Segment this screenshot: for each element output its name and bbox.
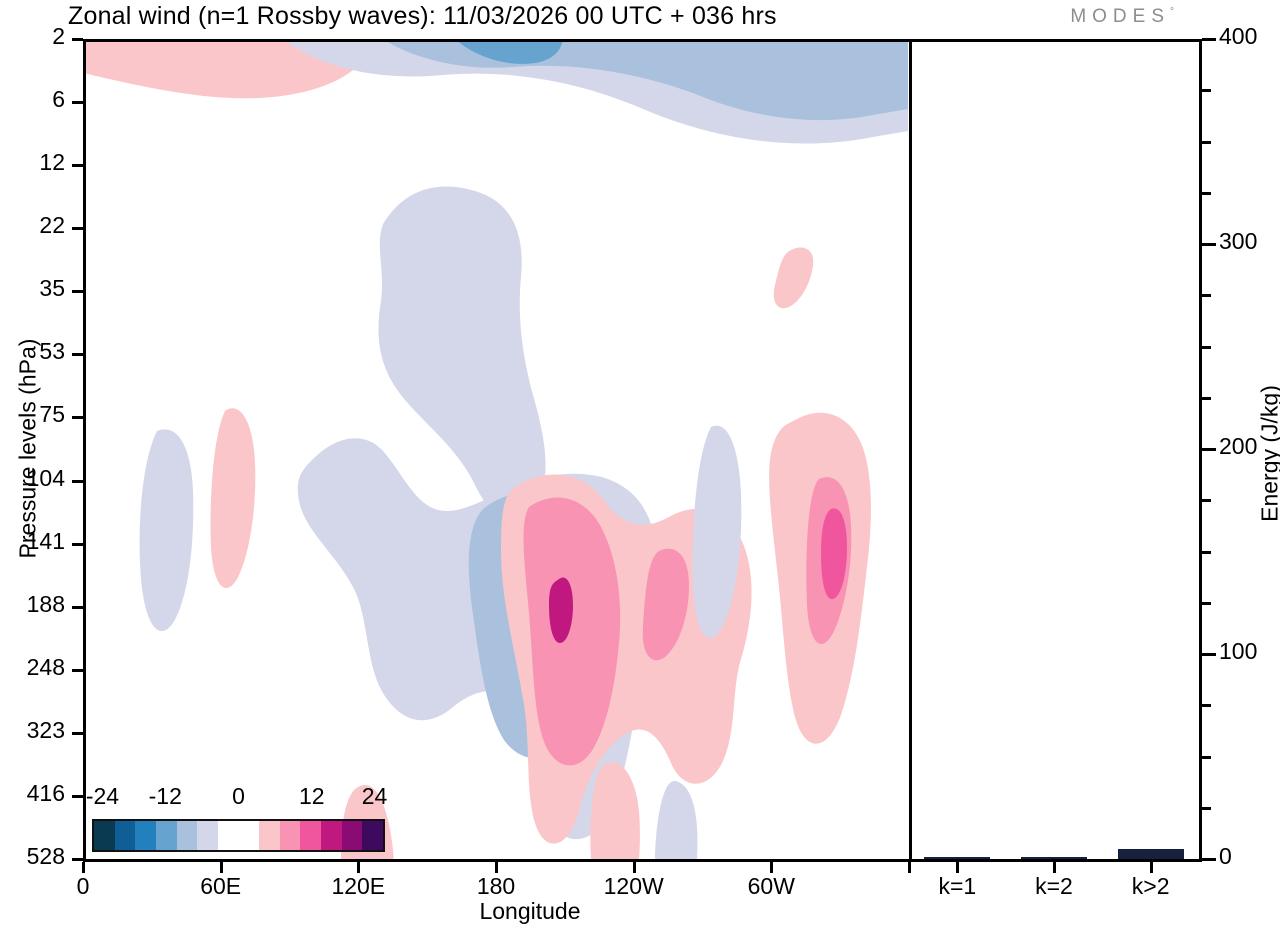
y-tick-right-minor — [1202, 89, 1211, 92]
y-axis-title-right: Energy (J/kg) — [1257, 314, 1280, 594]
y-tick-right-major — [1202, 858, 1216, 861]
y-tick-label-right: 300 — [1219, 228, 1257, 255]
colorbar-swatch — [177, 821, 198, 850]
colorbar-swatch — [362, 821, 383, 850]
y-tick-label-left: 528 — [0, 843, 65, 870]
bar-tick — [1150, 862, 1153, 873]
y-tick-left — [72, 227, 83, 230]
x-tick-label: 60W — [711, 873, 831, 900]
x-tick-label: 120W — [574, 873, 694, 900]
chart-canvas: Zonal wind (n=1 Rossby waves): 11/03/202… — [0, 0, 1280, 930]
colorbar-swatch — [156, 821, 177, 850]
x-tick-label: 0 — [23, 873, 143, 900]
energy-bar — [1118, 849, 1184, 859]
y-tick-label-left: 22 — [0, 212, 65, 239]
modes-logo: MODES° — [1070, 6, 1174, 28]
x-axis-title: Longitude — [380, 898, 680, 925]
y-tick-label-left: 6 — [0, 86, 65, 113]
y-tick-right-minor — [1202, 192, 1211, 195]
y-tick-right-major — [1202, 243, 1216, 246]
y-tick-left — [72, 669, 83, 672]
y-tick-right-minor — [1202, 602, 1211, 605]
colorbar-swatch — [94, 821, 115, 850]
y-tick-right-minor — [1202, 141, 1211, 144]
y-tick-right-minor — [1202, 294, 1211, 297]
y-tick-right-major — [1202, 38, 1216, 41]
colorbar-swatch — [342, 821, 363, 850]
y-tick-right-major — [1202, 448, 1216, 451]
x-tick — [357, 862, 360, 873]
x-tick — [82, 862, 85, 873]
x-tick — [908, 862, 911, 873]
y-tick-left — [72, 290, 83, 293]
page-title: Zonal wind (n=1 Rossby waves): 11/03/202… — [68, 2, 777, 31]
y-tick-left — [72, 164, 83, 167]
y-tick-label-right: 100 — [1219, 638, 1257, 665]
y-tick-right-minor — [1202, 346, 1211, 349]
colorbar-swatch — [197, 821, 218, 850]
contour-field-panel — [83, 39, 908, 859]
y-tick-label-right: 0 — [1219, 843, 1232, 870]
x-tick-label: 60E — [161, 873, 281, 900]
y-tick-left — [72, 543, 83, 546]
plot-frame-bottom — [83, 859, 1199, 862]
colorbar — [92, 819, 385, 852]
y-tick-label-left: 35 — [0, 275, 65, 302]
y-tick-left — [72, 732, 83, 735]
colorbar-swatch — [280, 821, 301, 850]
panel-divider — [909, 39, 912, 859]
colorbar-swatch — [259, 821, 280, 850]
x-tick-label: 120E — [298, 873, 418, 900]
y-tick-label-left: 53 — [0, 338, 65, 365]
y-tick-label-left: 104 — [0, 465, 65, 492]
y-tick-left — [72, 480, 83, 483]
x-tick-label: 180 — [436, 873, 556, 900]
y-tick-label-left: 75 — [0, 401, 65, 428]
colorbar-swatch — [321, 821, 342, 850]
energy-bar-panel — [909, 39, 1199, 859]
y-tick-label-left: 188 — [0, 591, 65, 618]
bar-tick — [1053, 862, 1056, 873]
y-tick-left — [72, 353, 83, 356]
y-tick-right-minor — [1202, 499, 1211, 502]
colorbar-swatch — [135, 821, 156, 850]
colorbar-label: 24 — [315, 783, 435, 810]
colorbar-swatch — [115, 821, 136, 850]
y-tick-right-minor — [1202, 704, 1211, 707]
y-tick-right-minor — [1202, 756, 1211, 759]
y-tick-label-right: 400 — [1219, 23, 1257, 50]
x-tick — [220, 862, 223, 873]
colorbar-swatch — [218, 821, 239, 850]
brand-text: MODES — [1070, 6, 1170, 27]
y-tick-label-left: 12 — [0, 149, 65, 176]
y-tick-label-left: 248 — [0, 654, 65, 681]
colorbar-swatch — [238, 821, 259, 850]
y-tick-left — [72, 38, 83, 41]
bar-label: k>2 — [1091, 873, 1211, 900]
y-tick-left — [72, 606, 83, 609]
y-tick-right-minor — [1202, 551, 1211, 554]
x-tick — [633, 862, 636, 873]
plot-frame-left — [83, 39, 86, 859]
x-tick — [770, 862, 773, 873]
y-tick-right-minor — [1202, 807, 1211, 810]
y-tick-right-major — [1202, 653, 1216, 656]
y-tick-label-right: 200 — [1219, 433, 1257, 460]
y-tick-left — [72, 101, 83, 104]
y-tick-label-left: 141 — [0, 528, 65, 555]
colorbar-swatch — [300, 821, 321, 850]
y-tick-left — [72, 858, 83, 861]
y-tick-label-left: 323 — [0, 717, 65, 744]
bar-tick — [956, 862, 959, 873]
y-tick-left — [72, 416, 83, 419]
y-tick-right-minor — [1202, 397, 1211, 400]
contour-shapes — [83, 39, 908, 859]
plot-frame-top — [83, 39, 1199, 42]
y-tick-label-left: 2 — [0, 23, 65, 50]
x-tick — [495, 862, 498, 873]
brand-mark-icon: ° — [1170, 7, 1174, 18]
